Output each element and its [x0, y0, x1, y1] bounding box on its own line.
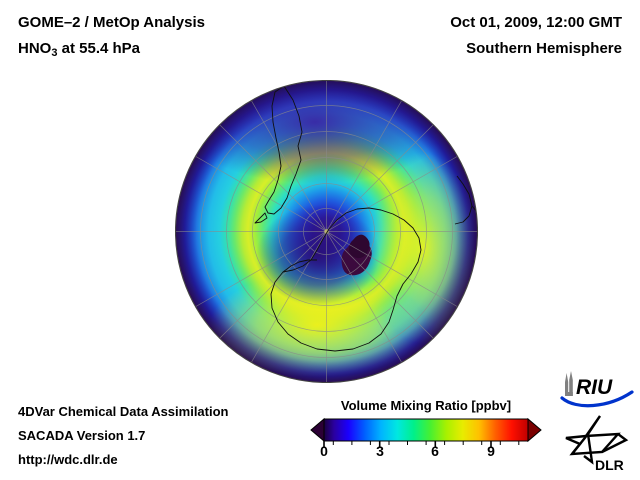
map-data-layer — [176, 80, 478, 383]
figure-canvas: GOME–2 / MetOp Analysis HNO3 at 55.4 hPa… — [0, 0, 640, 480]
colorbar-title: Volume Mixing Ratio [ppbv] — [310, 398, 542, 413]
coastline-africa-west — [463, 142, 477, 172]
riu-tower-icon — [565, 371, 573, 396]
species-level-text: at 55.4 hPa — [57, 40, 140, 57]
dlr-logo: DLR — [562, 414, 634, 474]
globe-svg — [175, 80, 478, 383]
timestamp-label: Oct 01, 2009, 12:00 GMT — [450, 14, 622, 31]
coastline-island-arc-2 — [231, 369, 251, 372]
url-label[interactable]: http://wdc.dlr.de — [18, 452, 118, 467]
coastline-island-arc — [215, 359, 237, 364]
colorbar-under-arrow — [311, 419, 324, 441]
page-title: GOME–2 / MetOp Analysis — [18, 14, 205, 31]
colorbar-over-arrow — [528, 419, 541, 441]
species-subtitle: HNO3 at 55.4 hPa — [18, 40, 140, 59]
version-label: SACADA Version 1.7 — [18, 428, 145, 443]
colorbar-gradient — [324, 419, 528, 441]
colorbar-tick-labels: 0 3 6 9 — [310, 443, 542, 465]
method-label: 4DVar Chemical Data Assimilation — [18, 404, 229, 419]
colorbar: Volume Mixing Ratio [ppbv] — [310, 398, 542, 470]
riu-logo: RIU — [560, 370, 634, 410]
dlr-wordmark: DLR — [595, 457, 624, 473]
colorbar-tick-label: 3 — [376, 443, 384, 459]
colorbar-tick-label: 0 — [320, 443, 328, 459]
riu-wordmark: RIU — [576, 376, 613, 399]
colorbar-tick-label: 9 — [487, 443, 495, 459]
region-label: Southern Hemisphere — [466, 40, 622, 57]
species-formula-prefix: HNO — [18, 40, 51, 57]
polar-map — [175, 80, 478, 383]
dlr-mark-icon — [566, 416, 626, 462]
colorbar-tick-label: 6 — [431, 443, 439, 459]
